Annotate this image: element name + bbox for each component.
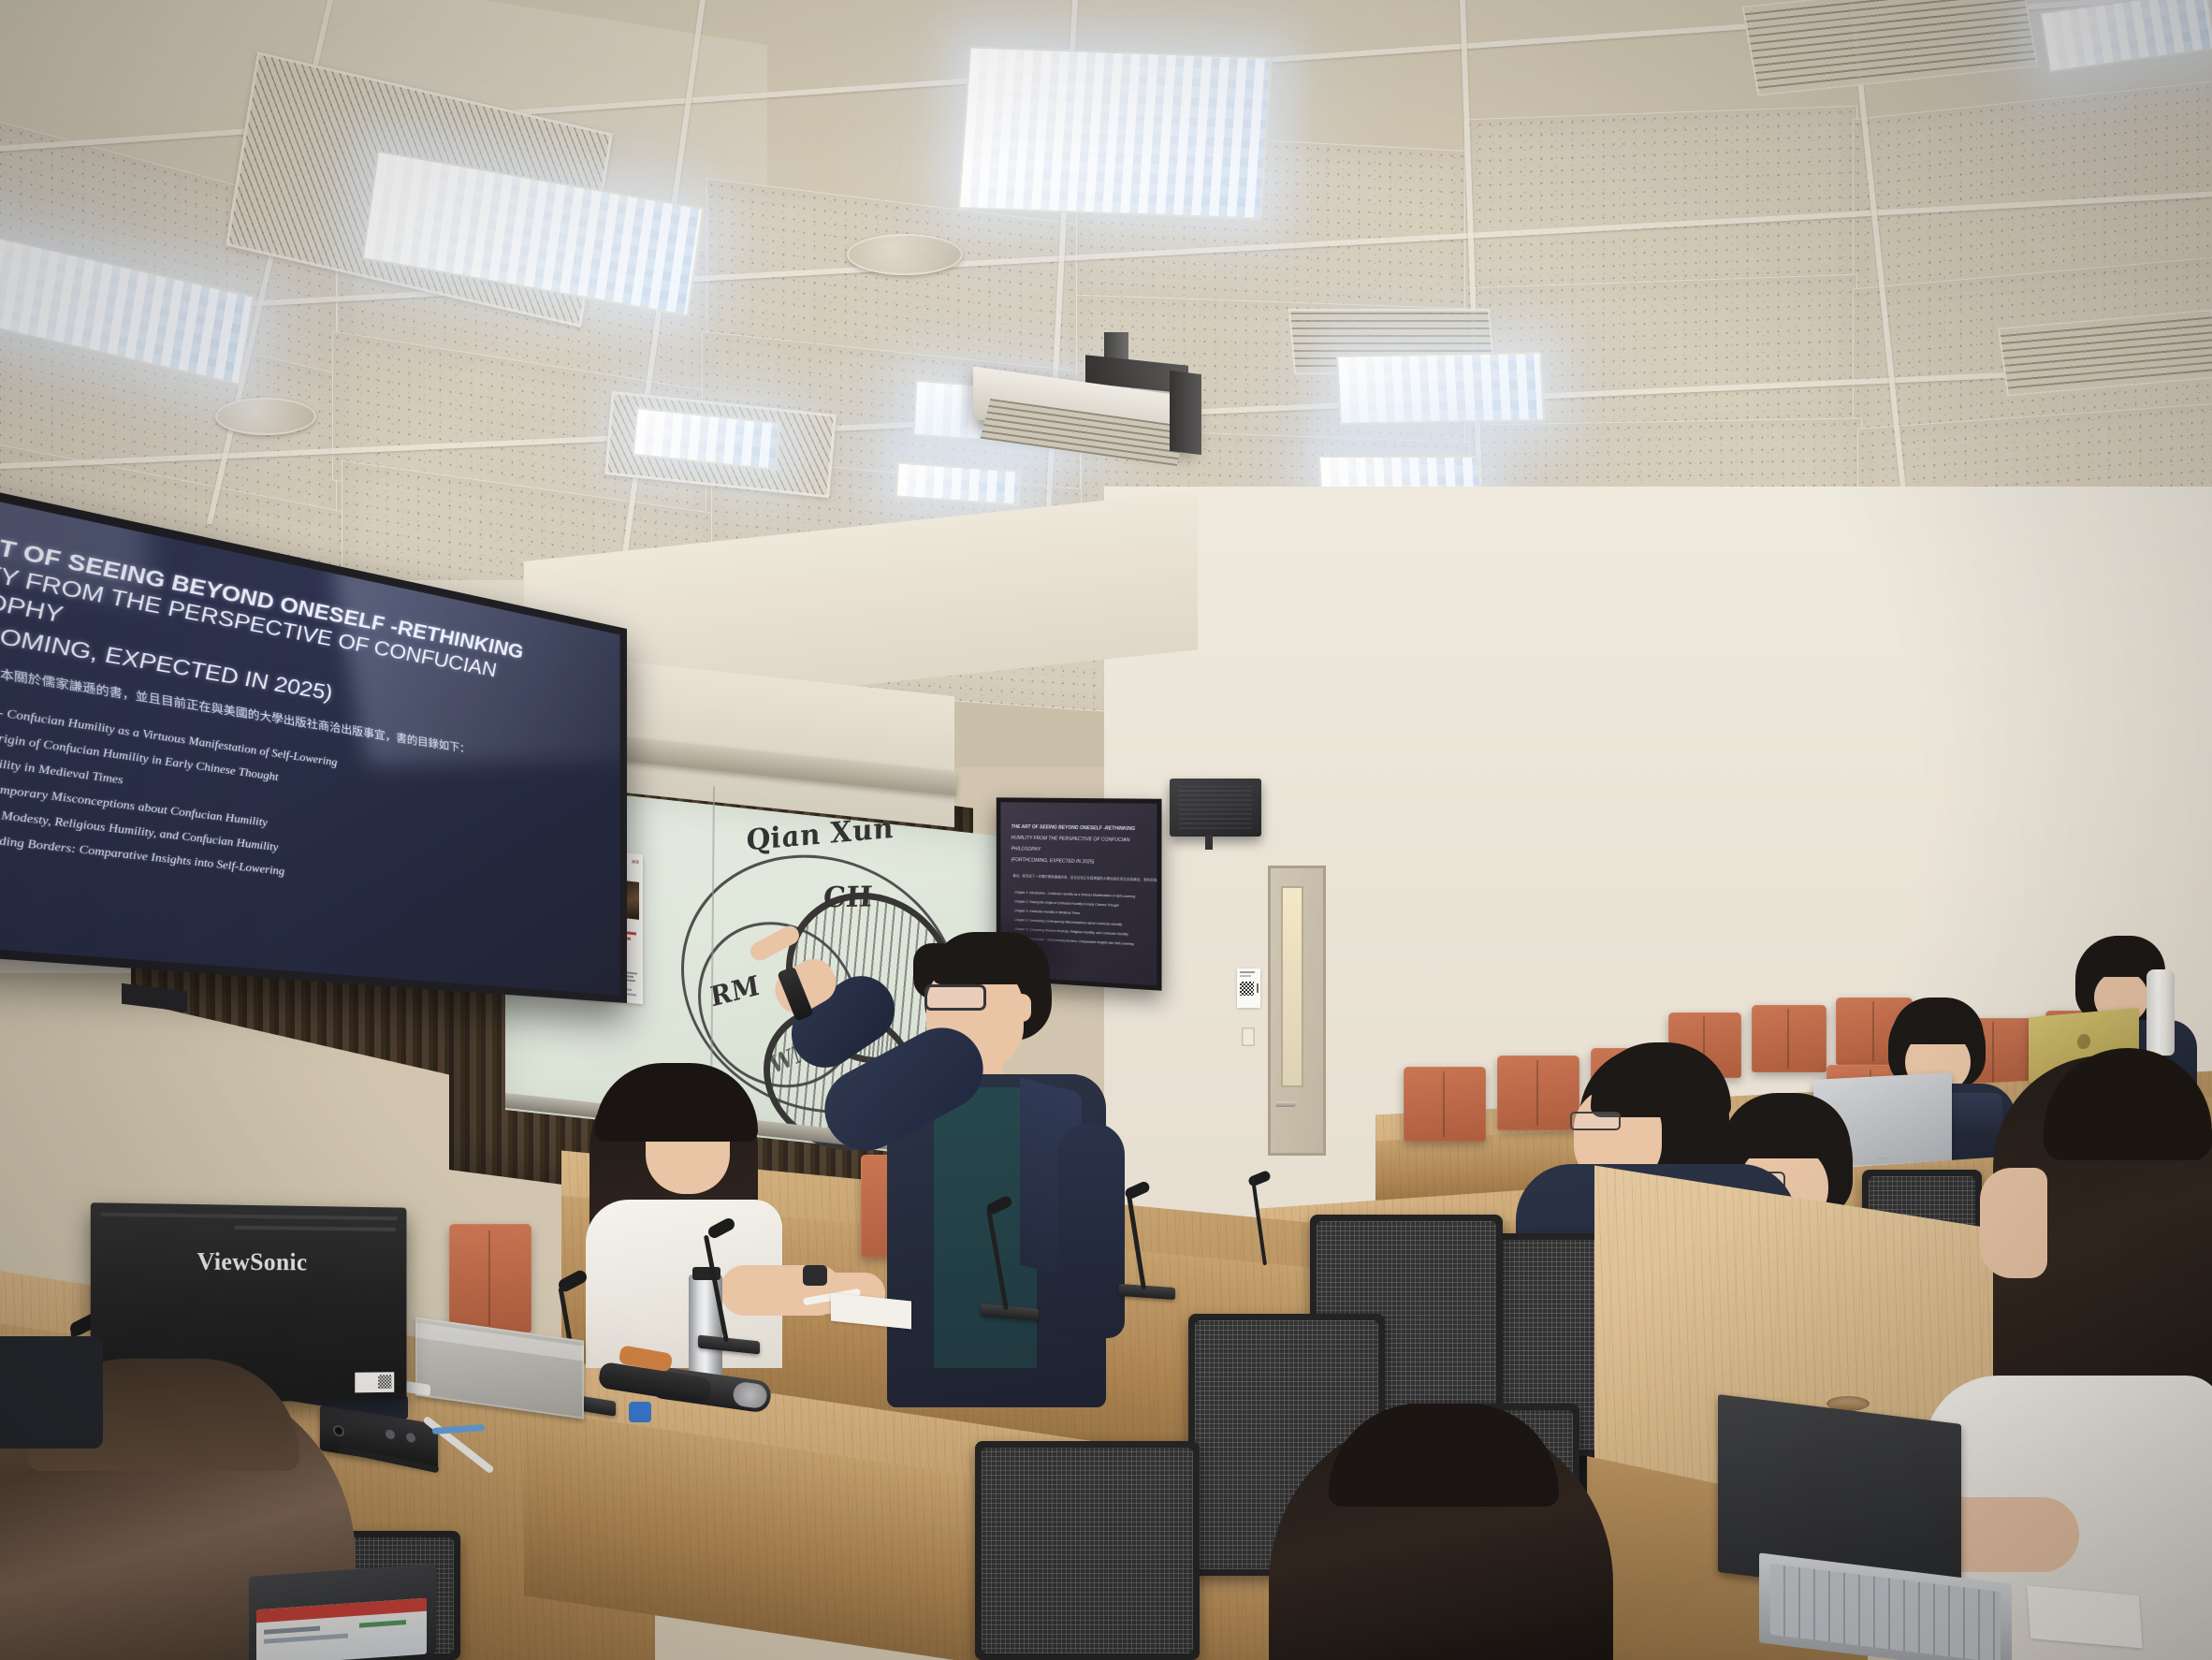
secondary-slide-chapter-1: Chapter 1: Introduction - Confucian Humi… [1014,891,1135,899]
secondary-slide-chapter-2: Chapter 2: Tracing the Origin of Confuci… [1014,899,1118,907]
ceiling-tile [1464,106,1857,298]
ceiling-light [1336,352,1545,425]
backpack [0,1336,103,1449]
monitor-asset-label [355,1372,394,1392]
whiteboard-label-qian-xun: Qian Xun [743,812,896,858]
eyeglasses-icon [924,984,986,1011]
secondary-slide-cjk: 最近，我完成了一本關於儒家謙遜的書，並且目前正在與美國的大學出版社商洽出版事宜，… [1012,874,1157,883]
ceiling-speaker [215,398,316,435]
chair-office-black[interactable] [975,1441,1200,1660]
door-handle[interactable] [1275,1101,1296,1107]
room-door[interactable] [1268,866,1326,1156]
secondary-slide-line-1: THE ART OF SEEING BEYOND ONESELF -RETHIN… [1011,824,1135,832]
seminar-room-photo: Qian Xun CH RM WM 謙遜 modesty 謙遜 05.21 人文… [0,0,2212,1660]
speaker-bracket [1205,835,1213,850]
wall-speaker [1170,779,1261,837]
chair-orange[interactable] [449,1224,531,1332]
laptop-brand-mark: ····· [1877,1156,1888,1163]
chair-orange[interactable] [1404,1067,1486,1142]
knob-icon [406,1433,415,1444]
chair-orange[interactable] [1752,1005,1826,1072]
eyeglasses-icon [1570,1112,1621,1130]
light-switch[interactable] [1242,1027,1255,1046]
door-notice-sign [1237,968,1260,1008]
water-bottle-white[interactable] [2147,969,2175,1056]
secondary-slide-line-3: PHILOSOPHY [1011,846,1041,852]
wristwatch [803,1265,827,1286]
ceiling-linear-vent [1741,0,2038,96]
desk-object-blue[interactable] [629,1402,651,1422]
monitor-vent [234,1226,396,1231]
port-icon [333,1424,344,1437]
ceiling-light [958,47,1273,220]
knob-icon [386,1429,395,1440]
monitor-vent [100,1213,398,1221]
door-window [1281,886,1303,1087]
qr-code-icon [1240,982,1254,996]
collar [1950,1093,2002,1130]
apple-logo-icon [2077,1033,2090,1049]
viewsonic-logo: ViewSonic [197,1247,308,1276]
secondary-slide-line-4: (FORTHCOMING, EXPECTED IN 2025) [1011,857,1095,865]
qr-code-icon [378,1375,391,1389]
chair-orange[interactable] [1497,1056,1579,1130]
paper-sheet[interactable] [2027,1585,2143,1648]
laptop-screen-content[interactable] [256,1598,427,1660]
whiteboard-label-ch: CH [822,881,875,914]
ceiling-light [2040,0,2212,73]
presenter-arm-right [1057,1123,1125,1338]
poster-headline: 謙遜 [632,859,639,866]
secondary-slide-line-2: HUMILITY FROM THE PERSPECTIVE OF CONFUCI… [1011,836,1130,844]
ceiling-speaker [847,234,963,275]
